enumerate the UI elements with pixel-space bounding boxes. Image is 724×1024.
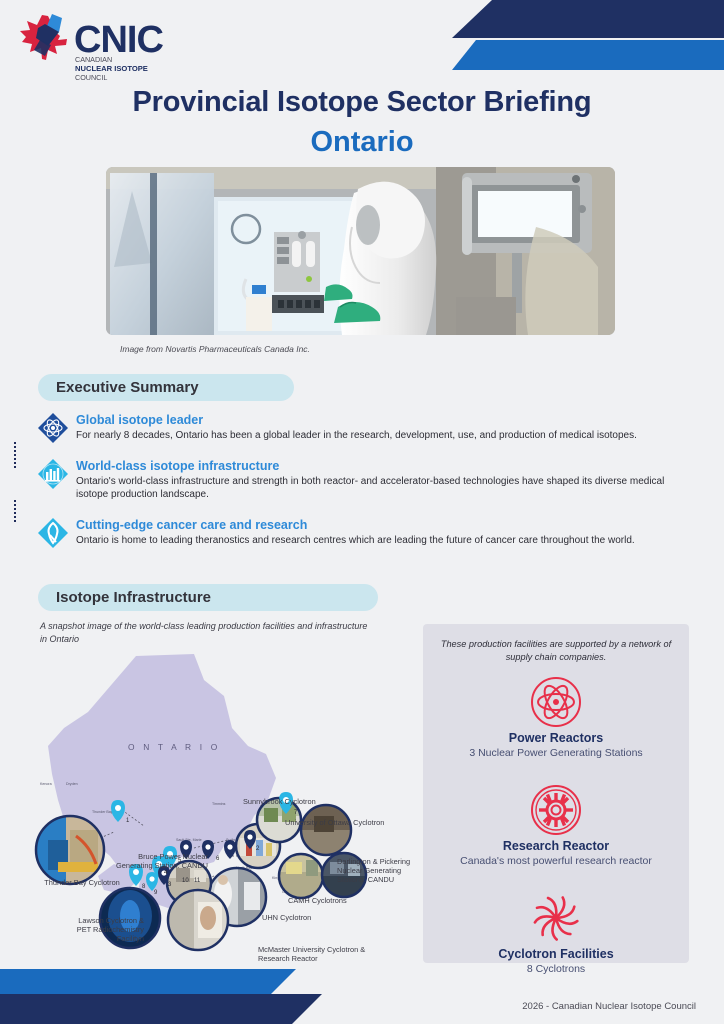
infrastructure-note: A snapshot image of the world-class lead… [40,620,370,645]
svg-text:9: 9 [154,890,158,896]
svg-text:10: 10 [182,878,189,884]
svg-text:1: 1 [126,818,130,824]
footer-ribbon-blue [0,969,296,995]
research-reactor-icon [423,784,689,836]
facility-label-darlington-pickering: Darlington & Pickering Nuclear Generatin… [337,857,419,884]
facility-stat-research-reactor: Research Reactor Canada's most powerful … [423,784,689,868]
section-title-text: Executive Summary [56,379,199,396]
facility-stat-cyclotron: Cyclotron Facilities 8 Cyclotrons [423,892,689,976]
section-header-executive-summary: Executive Summary [38,374,294,401]
facility-label-sunnybrook: Sunnybrook Cyclotron [243,797,353,806]
infographic-page: CNIC CANADIAN NUCLEAR ISOTOPE COUNCIL Pr… [0,0,724,1024]
facility-label-uhn: UHN Cyclotron [262,913,348,922]
summary-item-heading: World-class isotope infrastructure [76,459,678,474]
facility-stat-title: Research Reactor [423,839,689,853]
svg-text:NUCLEAR ISOTOPE: NUCLEAR ISOTOPE [75,64,148,73]
infrastructure-icon [38,459,68,489]
ribbon-icon [38,518,68,548]
summary-item-heading: Cutting-edge cancer care and research [76,518,678,533]
svg-text:8: 8 [142,884,146,890]
facility-stat-power-reactors: Power Reactors 3 Nuclear Power Generatin… [423,676,689,760]
facility-label-bruce-power: Bruce Power Nuclear Generating Station: … [110,852,208,870]
facility-stat-title: Power Reactors [423,731,689,745]
summary-item: Cutting-edge cancer care and research On… [38,517,678,548]
cyclotron-icon [423,892,689,944]
facility-label-uottawa: University of Ottawa Cyclotron [285,818,401,827]
bullet-connector-1 [14,442,18,468]
cnic-logo: CNIC CANADIAN NUCLEAR ISOTOPE COUNCIL [18,12,193,84]
facility-stat-title: Cyclotron Facilities [423,947,689,961]
bullet-connector-2 [14,500,18,522]
svg-text:CANADIAN: CANADIAN [75,55,112,64]
summary-item-heading: Global isotope leader [76,413,678,428]
facility-label-camh: CAMH Cyclotrons [288,896,376,905]
facility-stat-subtitle: 8 Cyclotrons [423,963,689,976]
summary-item-text: Ontario's world-class infrastructure and… [76,475,678,502]
footer-text: 2026 - Canadian Nuclear Isotope Council [522,1001,696,1012]
facility-label-lawson: Lawson Cyclotron & PET Radiochemistry Fa… [62,916,144,943]
summary-item-text: Ontario is home to leading theranostics … [76,534,678,548]
header-ribbon-navy [452,0,724,38]
page-subtitle: Ontario [0,126,724,159]
section-header-isotope-infrastructure: Isotope Infrastructure [38,584,378,611]
facility-label-thunder-bay: Thunder Bay Cyclotron [22,878,142,887]
svg-text:6: 6 [216,856,220,862]
summary-item: Global isotope leader For nearly 8 decad… [38,412,678,443]
svg-text:11: 11 [194,878,201,884]
atom-icon [38,413,68,443]
summary-item-text: For nearly 8 decades, Ontario has been a… [76,429,678,443]
summary-item: World-class isotope infrastructure Ontar… [38,458,678,502]
header-ribbon-blue [452,40,724,70]
svg-text:COUNCIL: COUNCIL [75,73,107,82]
facilities-summary-panel: These production facilities are supporte… [423,624,689,963]
facility-label-mcmaster: McMaster University Cyclotron & Research… [258,945,378,963]
facility-stat-subtitle: Canada's most powerful research reactor [423,855,689,868]
footer-ribbon-navy [0,994,322,1024]
facility-stat-subtitle: 3 Nuclear Power Generating Stations [423,747,689,760]
page-title: Provincial Isotope Sector Briefing [0,86,724,119]
maple-leaf-mark [20,14,67,60]
hero-caption: Image from Novartis Pharmaceuticals Cana… [120,344,580,354]
facilities-panel-note: These production facilities are supporte… [437,638,675,663]
section-title-text: Isotope Infrastructure [56,589,211,606]
power-reactor-icon [423,676,689,728]
executive-summary-list: Global isotope leader For nearly 8 decad… [38,412,678,559]
hero-image [106,167,615,335]
